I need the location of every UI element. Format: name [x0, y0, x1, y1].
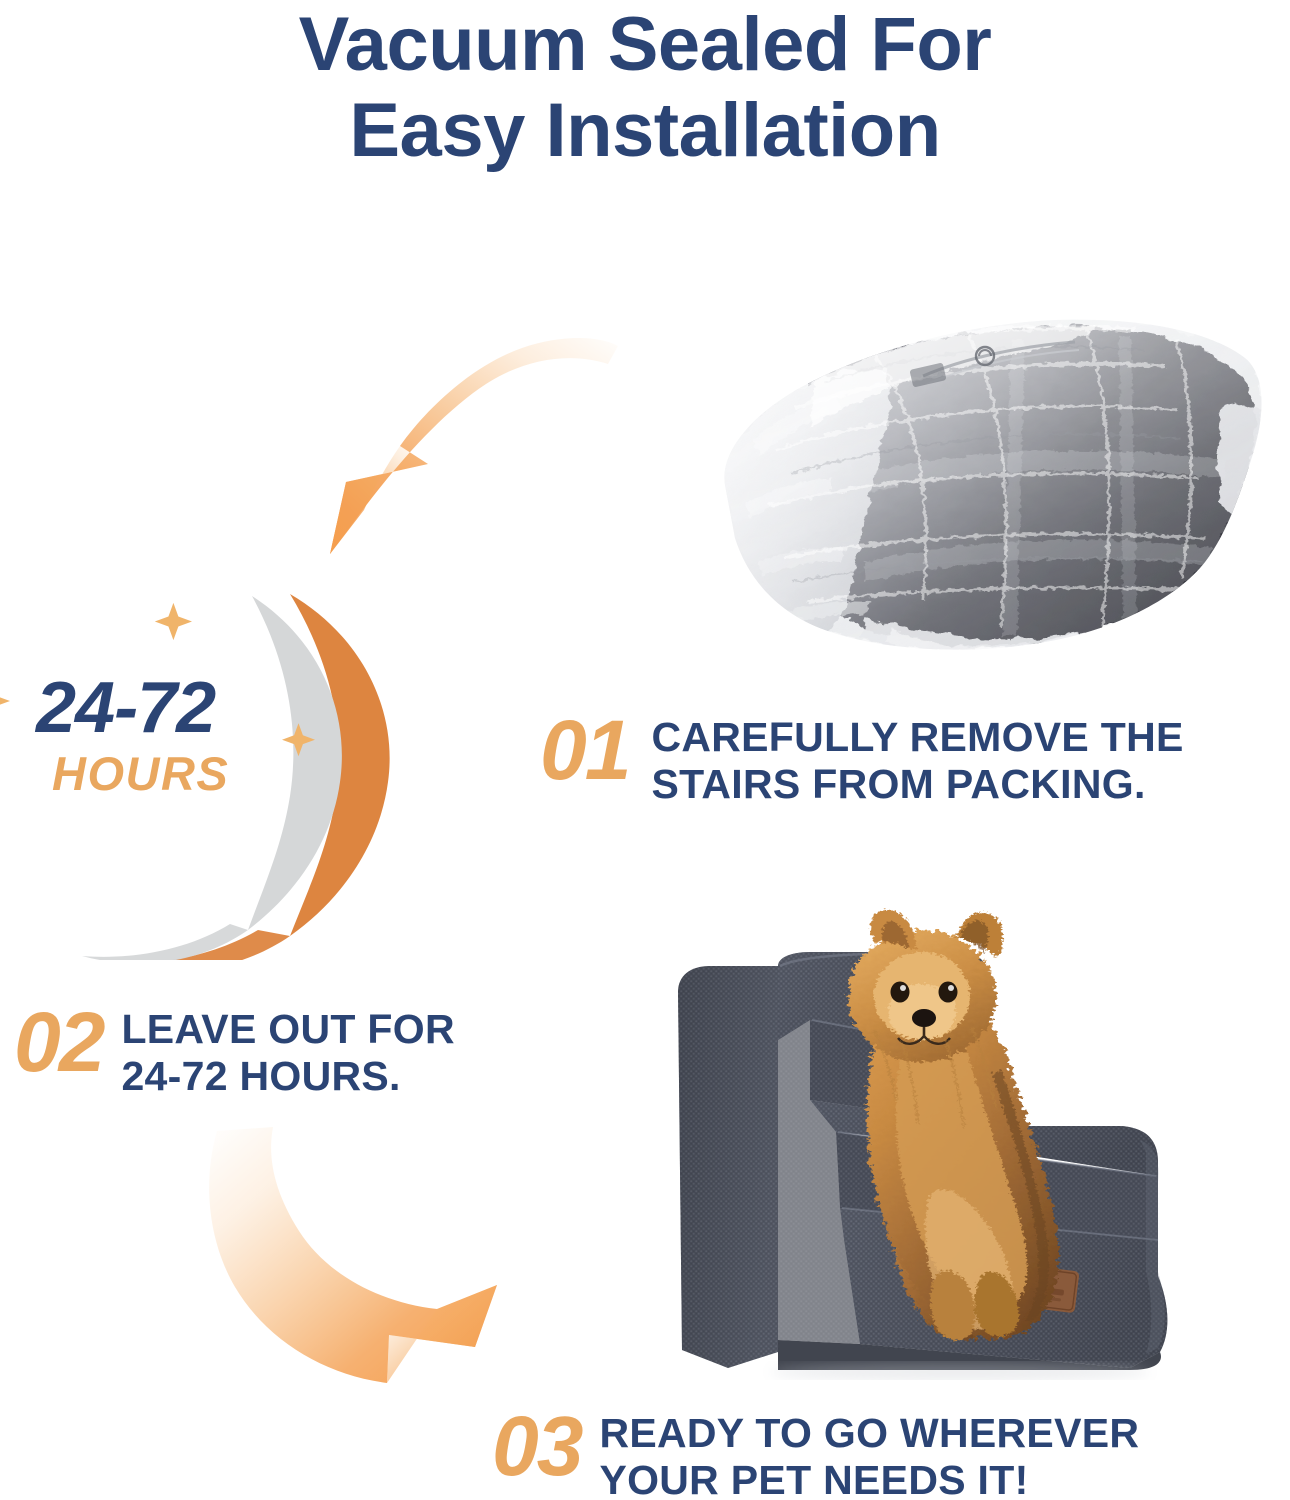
- vacuum-sealed-package-photo: [665, 300, 1280, 695]
- badge-duration-value: 24-72: [36, 672, 215, 744]
- step-03-number: 03: [492, 1404, 581, 1488]
- step-02: 02 LEAVE OUT FOR 24-72 HOURS.: [14, 1000, 455, 1100]
- page-title-line-1: Vacuum Sealed For: [0, 2, 1290, 88]
- sparkle-star-icon: [155, 603, 192, 640]
- step-03-line-1: READY TO GO WHEREVER: [599, 1410, 1139, 1457]
- badge-duration-unit: HOURS: [52, 750, 229, 797]
- step-01-line-1: CAREFULLY REMOVE THE: [651, 714, 1183, 761]
- step-03: 03 READY TO GO WHEREVER YOUR PET NEEDS I…: [492, 1404, 1139, 1500]
- page-title: Vacuum Sealed For Easy Installation: [0, 2, 1290, 174]
- page-title-line-2: Easy Installation: [0, 88, 1290, 174]
- curved-arrow-down-left-icon: [300, 318, 620, 568]
- step-02-line-1: LEAVE OUT FOR: [121, 1006, 454, 1053]
- step-03-line-2: YOUR PET NEEDS IT!: [599, 1457, 1139, 1500]
- step-02-text: LEAVE OUT FOR 24-72 HOURS.: [121, 1000, 454, 1100]
- step-01-text: CAREFULLY REMOVE THE STAIRS FROM PACKING…: [651, 708, 1183, 808]
- step-02-number: 02: [14, 1000, 103, 1084]
- step-01-line-2: STAIRS FROM PACKING.: [651, 761, 1183, 808]
- infographic-page: Vacuum Sealed For Easy Installation: [0, 0, 1290, 1500]
- duration-badge: 24-72 HOURS: [0, 590, 430, 960]
- step-02-line-2: 24-72 HOURS.: [121, 1053, 454, 1100]
- pet-stairs-with-dog-photo: [660, 900, 1280, 1380]
- step-01-number: 01: [540, 708, 629, 792]
- curved-arrow-down-right-icon: [175, 1125, 535, 1390]
- step-03-text: READY TO GO WHEREVER YOUR PET NEEDS IT!: [599, 1404, 1139, 1500]
- step-01: 01 CAREFULLY REMOVE THE STAIRS FROM PACK…: [540, 708, 1184, 808]
- sparkle-star-icon: [0, 686, 10, 716]
